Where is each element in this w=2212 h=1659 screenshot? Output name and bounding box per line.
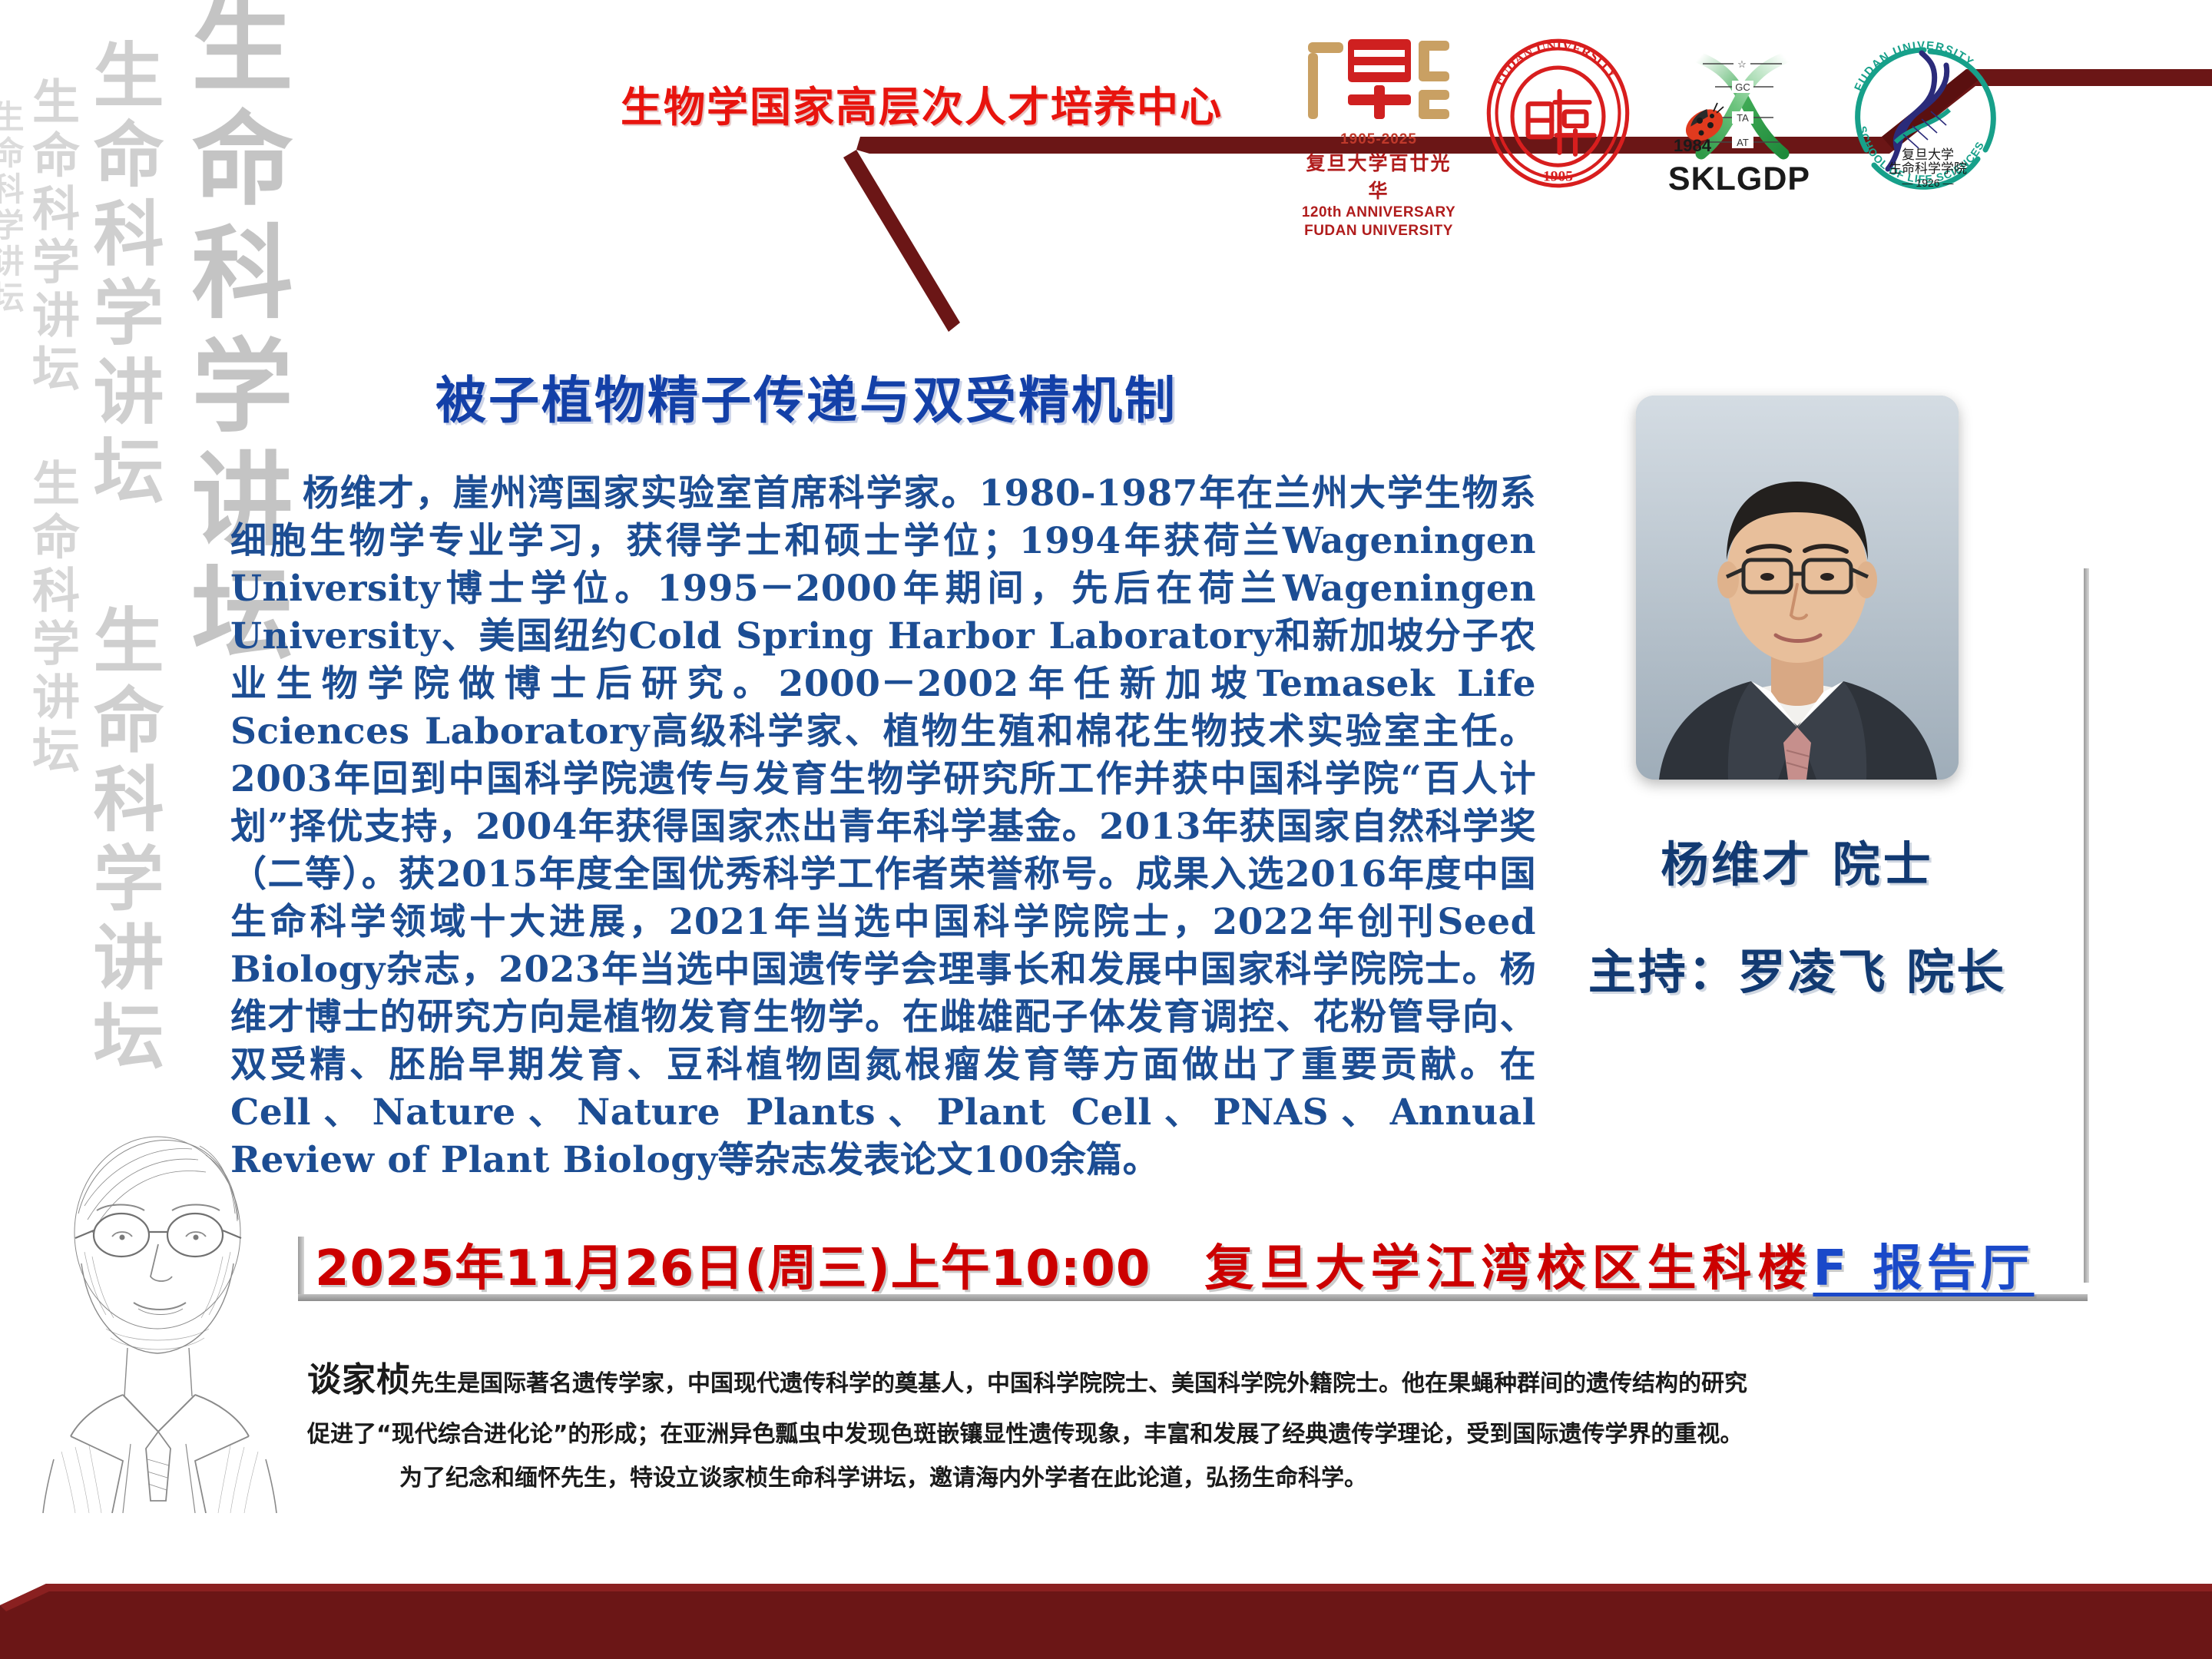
event-date: 2025年11月26日(周三)上午10:00 xyxy=(315,1229,1151,1300)
seal-ring-text: FUDAN UNIVERSITY xyxy=(1490,38,1621,88)
anniversary-mark-icon xyxy=(1298,35,1459,127)
anniversary-logo: 1905-2025 复旦大学百廿光华 120th ANNIVERSARY FUD… xyxy=(1298,35,1459,240)
helix-label-0: ☆ xyxy=(1737,58,1747,70)
helix-label-1: GC xyxy=(1735,81,1750,93)
anniversary-cn-name: 复旦大学百廿光华 xyxy=(1298,148,1459,204)
event-venue-group: 复旦大学江湾校区生科楼F 报告厅 xyxy=(1204,1229,2034,1300)
speaker-bio: 杨维才，崖州湾国家实验室首席科学家。1980-1987年在兰州大学生物系细胞生物… xyxy=(230,470,1536,1184)
sklgdp-abbrev: SKLGDP xyxy=(1657,161,1822,198)
svg-text:FUDAN UNIVERSITY: FUDAN UNIVERSITY xyxy=(1852,39,1976,93)
center-banner-text: 生物学国家高层次人才培养中心 xyxy=(538,73,1306,134)
speaker-portrait xyxy=(1636,396,1959,780)
footer-paragraph-2: 促进了“现代综合进化论”的形成；在亚洲异色瓢虫中发现色斑嵌镶显性遗传现象，丰富和… xyxy=(307,1412,2097,1456)
svg-text:FUDAN UNIVERSITY: FUDAN UNIVERSITY xyxy=(1490,38,1621,88)
anniversary-en-line2: FUDAN UNIVERSITY xyxy=(1298,222,1459,240)
dna-ladybug-icon: ☆ GC TA AT 1984 xyxy=(1657,35,1822,161)
series-title-line1: 复旦大学建校120周年 xyxy=(230,142,1008,217)
sls-ring-left: FUDAN UNIVERSITY xyxy=(1852,39,1976,93)
event-venue: 复旦大学江湾校区生科楼 xyxy=(1204,1240,1813,1297)
tan-jiazhen-engraving xyxy=(8,1098,330,1513)
logo-row: 1905-2025 复旦大学百廿光华 120th ANNIVERSARY FUD… xyxy=(1298,35,2007,240)
footer-p1-text: 先生是国际著名遗传学家，中国现代遗传科学的奠基人，中国科学院院士、美国科学院外籍… xyxy=(411,1370,1747,1397)
event-info-bar: 2025年11月26日(周三)上午10:00 复旦大学江湾校区生科楼F 报告厅 xyxy=(315,1229,2097,1300)
series-title-line2: 谈家桢生命科学讲坛系列 xyxy=(230,217,1008,291)
footer-paragraph-3: 为了纪念和缅怀先生，特设立谈家桢生命科学讲坛，邀请海内外学者在此论道，弘扬生命科… xyxy=(307,1456,2097,1500)
host-name: 主持：罗凌飞 院长 xyxy=(1536,933,2058,1002)
sklgdp-logo: ☆ GC TA AT 1984 SKLGDP xyxy=(1657,35,1822,198)
helix-label-3: AT xyxy=(1737,137,1749,148)
speaker-name: 杨维才 院士 xyxy=(1551,826,2043,895)
sls-cn-line2: 生命科学学院 xyxy=(1889,161,1967,177)
helix-label-2: TA xyxy=(1737,112,1749,124)
sls-year: — 1926 — xyxy=(1902,177,1954,189)
lecture-title: 被子植物精子传递与双受精机制 xyxy=(230,359,1382,433)
anniversary-years: 1905-2025 xyxy=(1298,131,1459,148)
portrait-photo-icon xyxy=(1636,396,1959,780)
fudan-seal-logo: FUDAN UNIVERSITY 1905 xyxy=(1479,35,1637,196)
footer-paragraph-1: 谈家桢先生是国际著名遗传学家，中国现代遗传科学的奠基人，中国科学院院士、美国科学… xyxy=(307,1348,2097,1412)
footer-description: 谈家桢先生是国际著名遗传学家，中国现代遗传科学的奠基人，中国科学院院士、美国科学… xyxy=(307,1348,2097,1500)
seal-year: 1905 xyxy=(1543,169,1573,185)
series-title: 复旦大学建校120周年 谈家桢生命科学讲坛系列 xyxy=(230,142,1008,291)
right-vertical-rule xyxy=(2084,568,2089,1283)
life-sciences-icon: FUDAN UNIVERSITY SCHOOL OF LIFE SCIENCES… xyxy=(1842,35,2007,200)
poster-root: 生命科学讲坛 生命科学讲坛 生命科学讲坛 生命科学讲坛 生命科学讲坛 生命科学讲… xyxy=(0,0,2212,1659)
sls-cn-line1: 复旦大学 xyxy=(1902,147,1954,163)
fudan-seal-icon: FUDAN UNIVERSITY 1905 xyxy=(1479,35,1637,192)
event-hall: F 报告厅 xyxy=(1813,1240,2034,1297)
anniversary-en-line1: 120th ANNIVERSARY xyxy=(1298,204,1459,222)
life-sciences-logo: FUDAN UNIVERSITY SCHOOL OF LIFE SCIENCES… xyxy=(1842,35,2007,204)
sklgdp-year: 1984 xyxy=(1674,136,1712,155)
bottom-bar xyxy=(0,1568,2212,1659)
